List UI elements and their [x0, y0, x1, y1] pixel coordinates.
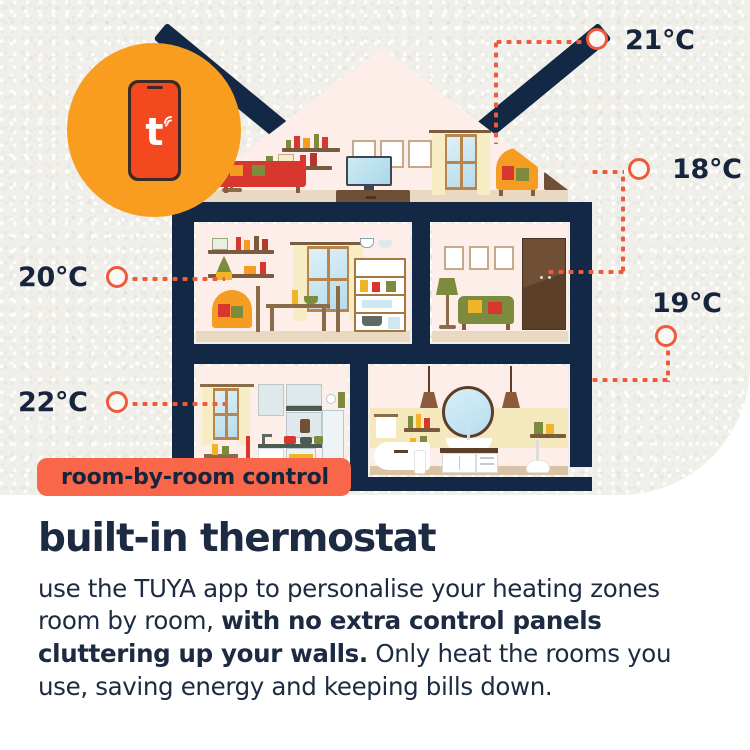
shelf-item — [254, 236, 259, 250]
toilet-stand — [536, 440, 539, 462]
wall-clock — [326, 394, 336, 404]
dresser-item — [386, 281, 396, 292]
dresser-plates — [362, 300, 392, 308]
cushion — [502, 166, 514, 180]
connector-21c-horizontal — [494, 40, 586, 44]
sink-faucet — [467, 428, 470, 440]
chair-back — [256, 286, 260, 332]
connector-19c-horizontal — [590, 378, 670, 382]
cabinet-item — [300, 419, 310, 433]
tub-panel — [414, 450, 426, 474]
temp-marker-attic[interactable] — [586, 28, 608, 50]
hero-image: 21°C 18°C 19°C 20°C 22°C t — [0, 0, 750, 495]
cushion — [516, 168, 529, 181]
dresser-shelf — [354, 294, 406, 296]
shelf-item — [314, 134, 319, 148]
shelf-item — [286, 140, 291, 148]
television — [346, 156, 392, 186]
shelf-item — [294, 136, 300, 148]
kitchen-window — [212, 388, 240, 440]
table-item — [212, 444, 218, 455]
bottle — [546, 424, 554, 434]
curtain-left — [202, 387, 213, 445]
pendant-lamp — [502, 392, 520, 408]
pot — [314, 436, 323, 444]
wall-cabinet — [286, 384, 322, 406]
cushion — [252, 165, 265, 176]
floor-divider-1 — [172, 202, 592, 222]
sofa-leg — [296, 187, 300, 193]
room-by-room-control-badge: room-by-room control — [37, 458, 351, 496]
shelf-item — [262, 239, 268, 250]
cup — [360, 238, 374, 248]
drawer-line — [480, 457, 494, 459]
tuya-logo-letter: t — [145, 112, 163, 150]
shelf-item — [338, 392, 345, 408]
shelf-upper — [208, 250, 274, 254]
curtain-left — [432, 133, 445, 195]
shelf-jar — [212, 238, 228, 250]
connector-20c-horizontal — [130, 277, 225, 281]
bottle — [534, 422, 543, 434]
wall-frame — [469, 246, 489, 270]
attic-window — [444, 134, 478, 190]
phone-notch — [147, 86, 163, 89]
temp-label-dining: 20°C — [18, 262, 88, 293]
dresser-shelf — [354, 312, 406, 314]
room-lounge — [432, 224, 568, 342]
tub-edge — [394, 450, 408, 453]
connector-22c-horizontal — [130, 402, 225, 406]
curtain-left — [293, 245, 307, 321]
console-handle — [366, 196, 376, 199]
smartphone-illustration: t — [128, 80, 181, 181]
sofa-leg — [462, 324, 466, 330]
bottle — [408, 416, 413, 428]
drawer-line — [480, 463, 494, 465]
wall-frame — [408, 140, 432, 168]
sofa-green — [458, 296, 514, 324]
copy-block: built-in thermostat use the TUYA app to … — [38, 518, 728, 703]
kettle — [284, 436, 296, 444]
wall-right — [570, 202, 592, 467]
toilet — [526, 460, 550, 473]
floor-lamp-shade — [436, 278, 458, 295]
temp-label-bathroom: 19°C — [652, 288, 722, 319]
glass — [388, 317, 400, 329]
house-cutaway-illustration — [172, 22, 592, 467]
chair-leg — [531, 190, 535, 196]
shelf-item — [244, 240, 250, 250]
body-paragraph: use the TUYA app to personalise your hea… — [38, 573, 728, 703]
temp-marker-kitchen[interactable] — [106, 391, 128, 413]
pan — [300, 437, 312, 444]
table-bowl — [304, 296, 318, 304]
connector-18c-vertical — [621, 174, 625, 272]
page-title: built-in thermostat — [38, 518, 728, 561]
dresser-item — [360, 280, 368, 292]
chair-leg — [499, 190, 503, 196]
pendant-lamp — [420, 392, 438, 408]
bottle — [424, 418, 430, 428]
temp-marker-dining[interactable] — [106, 266, 128, 288]
range-hood — [286, 406, 322, 411]
wall-frame — [494, 246, 514, 270]
wall-left — [172, 202, 194, 467]
sofa-leg — [506, 324, 510, 330]
bottle — [416, 414, 421, 428]
connector-18c-inward — [546, 270, 624, 274]
table-item — [222, 446, 229, 455]
room-dining — [196, 224, 410, 342]
dresser-shelf — [354, 276, 406, 278]
floor-lamp-base — [439, 325, 456, 329]
phone-screen: t — [131, 83, 178, 178]
infographic-page: 21°C 18°C 19°C 20°C 22°C t — [0, 0, 750, 750]
pendant-cord — [428, 366, 430, 392]
shelf-item — [322, 137, 328, 148]
table-leg — [270, 308, 274, 331]
sofa-leg — [224, 187, 228, 193]
faucet-spout — [262, 434, 272, 437]
table-bottle — [292, 290, 298, 304]
side-table — [544, 172, 582, 190]
shelf-upper — [282, 148, 340, 152]
cushion — [231, 306, 243, 318]
temp-label-lounge: 18°C — [672, 154, 742, 185]
bathroom-shelf — [530, 434, 566, 438]
temp-label-attic: 21°C — [625, 25, 695, 56]
temp-marker-bathroom[interactable] — [655, 325, 677, 347]
interior-wall-upper — [412, 222, 430, 344]
temp-label-kitchen: 22°C — [18, 387, 88, 418]
shelf-item — [260, 262, 266, 274]
cushion — [488, 302, 502, 314]
floor-divider-2 — [172, 344, 592, 364]
room-attic-living — [196, 48, 568, 202]
curtain-right — [477, 133, 490, 195]
dining-table-top — [266, 304, 330, 308]
wardrobe — [522, 238, 566, 330]
bowl — [378, 240, 392, 248]
pendant-cord — [510, 366, 512, 392]
bathroom-shelf — [404, 428, 440, 432]
plant-pot — [580, 182, 600, 194]
interior-wall-lower — [350, 364, 368, 477]
tuya-app-badge[interactable]: t — [67, 43, 241, 217]
chair-back — [336, 286, 340, 332]
towel-rail — [374, 414, 398, 417]
table-book — [558, 162, 572, 171]
hand-towel — [376, 416, 396, 438]
shelf-item — [310, 153, 317, 166]
connector-19c-vertical — [666, 348, 670, 382]
connector-21c-vertical — [494, 40, 498, 144]
floor-lamp-stand — [446, 295, 449, 327]
shelf-item — [236, 237, 241, 250]
cushion — [468, 300, 482, 313]
wall-cabinet — [258, 384, 284, 416]
table-leg — [322, 308, 326, 331]
table-item — [548, 158, 556, 172]
wardrobe-handle — [548, 276, 551, 279]
temp-marker-lounge[interactable] — [628, 158, 650, 180]
cabinet-split — [459, 456, 460, 470]
cushion — [218, 304, 230, 317]
dresser-item — [372, 282, 380, 292]
shelf-item — [244, 266, 256, 274]
wifi-signal-icon — [164, 114, 178, 128]
room-bathroom — [370, 366, 568, 475]
pot — [362, 316, 382, 326]
wardrobe-handle — [540, 276, 543, 279]
shelf-item — [303, 138, 310, 148]
connector-18c-horizontal — [590, 170, 624, 174]
wall-frame — [444, 246, 464, 270]
